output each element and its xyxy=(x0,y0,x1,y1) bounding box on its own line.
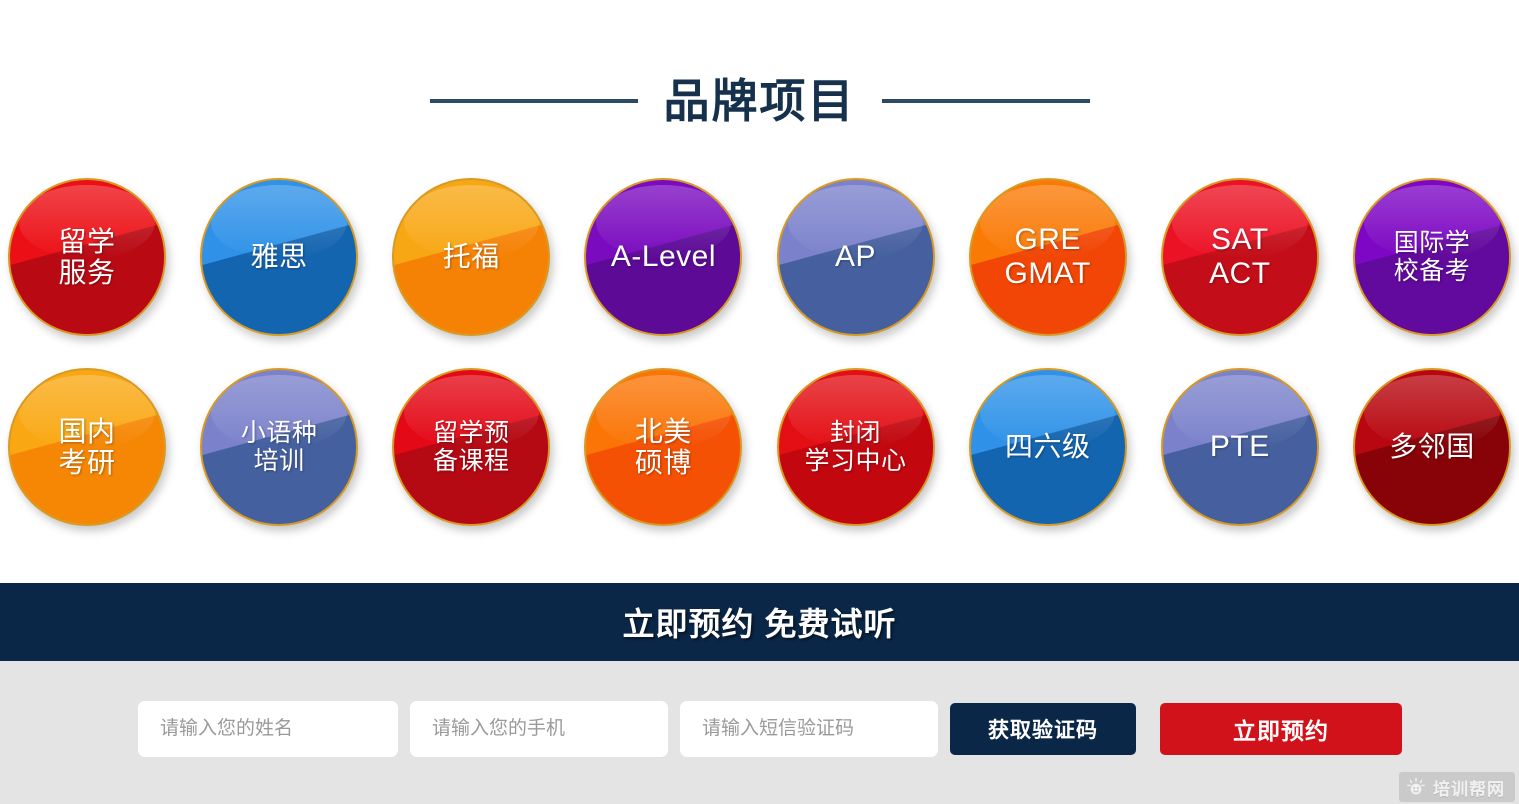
get-code-button[interactable]: 获取验证码 xyxy=(950,703,1136,755)
program-circle-body[interactable]: AP xyxy=(777,178,935,336)
program-circle-body[interactable]: 留学 服务 xyxy=(8,178,166,336)
program-circle-body[interactable]: SAT ACT xyxy=(1161,178,1319,336)
program-circle-label: 封闭 学习中心 xyxy=(799,419,913,475)
site-watermark: 培训帮网 xyxy=(1399,772,1515,802)
title-rule-left xyxy=(430,99,638,103)
program-circle-label: 多邻国 xyxy=(1383,431,1481,462)
name-input[interactable] xyxy=(138,701,398,757)
program-circle-body[interactable]: 留学预 备课程 xyxy=(392,368,550,526)
program-circle-label: PTE xyxy=(1204,430,1276,464)
program-circle-国内-考研[interactable]: 国内 考研 xyxy=(8,368,166,526)
program-circle-国际学-校备考[interactable]: 国际学 校备考 xyxy=(1353,178,1511,336)
program-circle-sat-act[interactable]: SAT ACT xyxy=(1161,178,1319,336)
program-circle-body[interactable]: A-Level xyxy=(584,178,742,336)
program-grid: 留学 服务雅思托福A-LevelAPGRE GMATSAT ACT国际学 校备考… xyxy=(0,178,1519,556)
program-circle-body[interactable]: 小语种 培训 xyxy=(200,368,358,526)
program-circle-body[interactable]: 国际学 校备考 xyxy=(1353,178,1511,336)
program-circle-托福[interactable]: 托福 xyxy=(392,178,550,336)
program-circle-label: GRE GMAT xyxy=(998,223,1096,290)
cta-banner: 立即预约 免费试听 xyxy=(0,583,1519,661)
program-circle-body[interactable]: 北美 硕博 xyxy=(584,368,742,526)
program-circle-雅思[interactable]: 雅思 xyxy=(200,178,358,336)
booking-form-strip: 获取验证码 立即预约 xyxy=(0,661,1519,804)
program-circle-body[interactable]: PTE xyxy=(1161,368,1319,526)
program-circle-封闭-学习中心[interactable]: 封闭 学习中心 xyxy=(777,368,935,526)
program-circle-四六级[interactable]: 四六级 xyxy=(969,368,1127,526)
program-circle-body[interactable]: 封闭 学习中心 xyxy=(777,368,935,526)
program-row-2: 国内 考研小语种 培训留学预 备课程北美 硕博封闭 学习中心四六级PTE多邻国 xyxy=(0,368,1519,558)
program-circle-北美-硕博[interactable]: 北美 硕博 xyxy=(584,368,742,526)
program-circle-body[interactable]: 四六级 xyxy=(969,368,1127,526)
submit-booking-button[interactable]: 立即预约 xyxy=(1160,703,1402,755)
sms-code-input[interactable] xyxy=(680,701,938,757)
program-circle-body[interactable]: GRE GMAT xyxy=(969,178,1127,336)
program-row-1: 留学 服务雅思托福A-LevelAPGRE GMATSAT ACT国际学 校备考 xyxy=(0,178,1519,368)
watermark-label: 培训帮网 xyxy=(1433,775,1505,800)
phone-input[interactable] xyxy=(410,701,668,757)
program-circle-body[interactable]: 国内 考研 xyxy=(8,368,166,526)
program-circle-label: A-Level xyxy=(605,240,722,274)
program-circle-label: 国内 考研 xyxy=(52,416,121,479)
program-circle-留学-服务[interactable]: 留学 服务 xyxy=(8,178,166,336)
program-circle-pte[interactable]: PTE xyxy=(1161,368,1319,526)
program-circle-小语种-培训[interactable]: 小语种 培训 xyxy=(200,368,358,526)
program-circle-a-level[interactable]: A-Level xyxy=(584,178,742,336)
program-circle-body[interactable]: 多邻国 xyxy=(1353,368,1511,526)
program-circle-label: 留学预 备课程 xyxy=(427,419,516,475)
program-circle-gre-gmat[interactable]: GRE GMAT xyxy=(969,178,1127,336)
section-title-row: 品牌项目 xyxy=(0,66,1519,136)
program-circle-label: 小语种 培训 xyxy=(235,419,324,475)
sun-face-icon xyxy=(1406,777,1426,797)
page-title: 品牌项目 xyxy=(664,78,856,124)
program-circle-label: 北美 硕博 xyxy=(629,416,698,479)
title-rule-right xyxy=(882,99,1090,103)
program-circle-label: AP xyxy=(829,240,882,274)
program-circle-label: 托福 xyxy=(437,241,506,272)
cta-banner-headline: 立即预约 免费试听 xyxy=(623,599,897,645)
program-circle-多邻国[interactable]: 多邻国 xyxy=(1353,368,1511,526)
program-circle-label: 留学 服务 xyxy=(52,226,121,289)
program-circle-label: 国际学 校备考 xyxy=(1388,229,1477,285)
program-circle-留学预-备课程[interactable]: 留学预 备课程 xyxy=(392,368,550,526)
booking-form: 获取验证码 立即预约 xyxy=(138,701,1402,757)
program-circle-body[interactable]: 雅思 xyxy=(200,178,358,336)
program-circle-label: SAT ACT xyxy=(1203,223,1277,290)
program-circle-label: 雅思 xyxy=(245,241,314,272)
program-circle-label: 四六级 xyxy=(999,431,1097,462)
program-circle-body[interactable]: 托福 xyxy=(392,178,550,336)
program-circle-ap[interactable]: AP xyxy=(777,178,935,336)
